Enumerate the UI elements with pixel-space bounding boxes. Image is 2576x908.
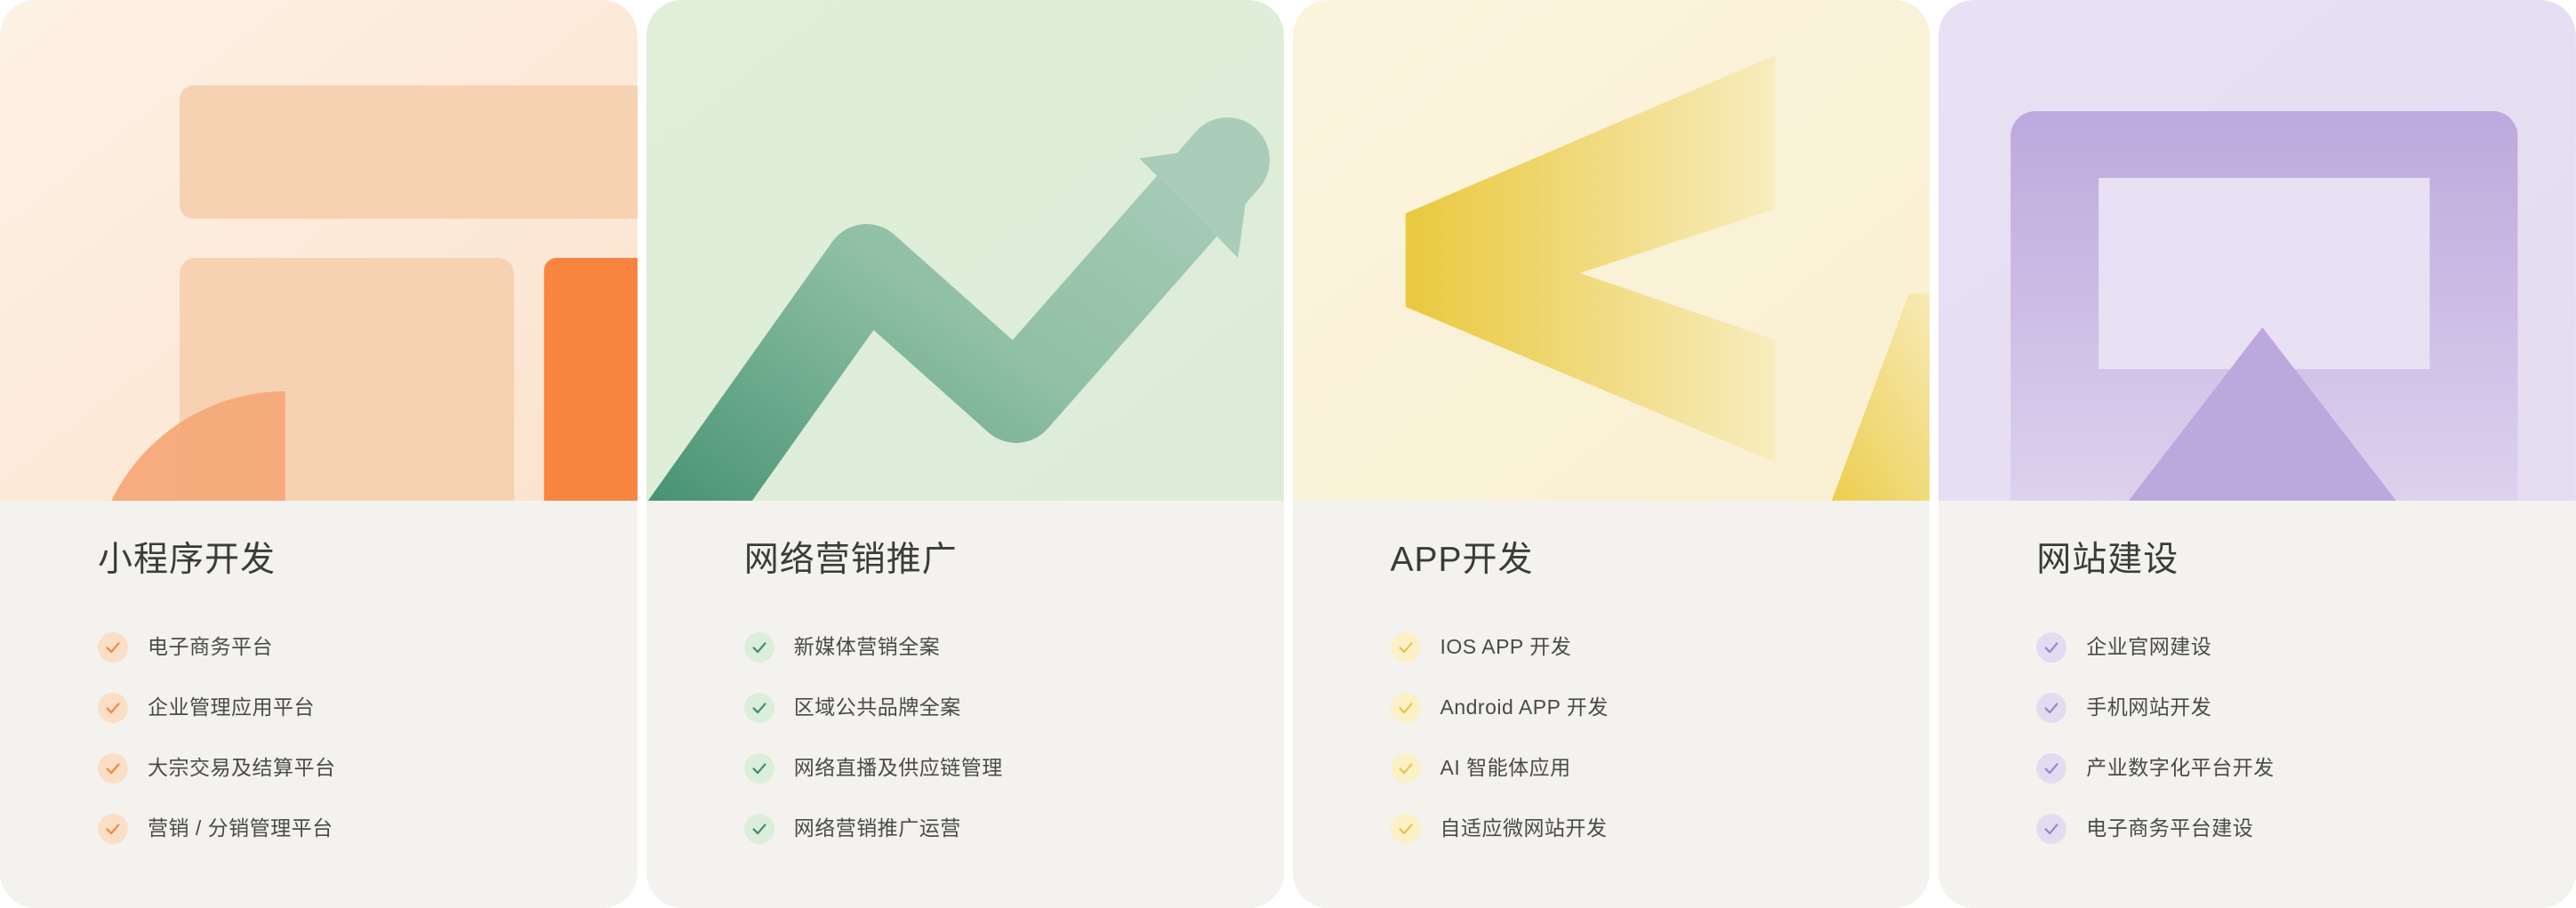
card-illustration-app-development [1293,0,1930,501]
card-body-website-construction: 网站建设 企业官网建设 手机网站开发 [1938,501,2576,908]
list-item[interactable]: 网络直播及供应链管理 [744,738,1284,799]
service-card-website-construction[interactable]: 网站建设 企业官网建设 手机网站开发 [1938,0,2576,908]
card-body-mini-program: 小程序开发 电子商务平台 企业管理应用平台 [0,501,638,908]
list-item-label: 网络营销推广运营 [794,818,961,839]
list-item[interactable]: 企业管理应用平台 [98,678,638,738]
list-item[interactable]: IOS APP 开发 [1391,617,1930,678]
list-item[interactable]: 区域公共品牌全案 [744,678,1284,738]
list-item[interactable]: 产业数字化平台开发 [2036,738,2576,799]
card-body-app-development: APP开发 IOS APP 开发 Android APP 开发 [1293,501,1930,908]
check-icon [1391,814,1421,844]
check-icon [1391,632,1421,663]
list-item-label: 企业官网建设 [2086,637,2211,657]
list-item-label: 新媒体营销全案 [794,637,941,657]
service-card-grid: 小程序开发 电子商务平台 企业管理应用平台 [0,0,2576,908]
layout-wireframe-icon [0,0,638,501]
card-illustration-mini-program [0,0,638,501]
check-icon [98,814,128,844]
check-icon [2036,632,2066,663]
check-icon [2036,753,2066,783]
check-icon [98,632,128,663]
feature-list: IOS APP 开发 Android APP 开发 AI 智能体应用 [1391,617,1930,859]
card-body-network-marketing: 网络营销推广 新媒体营销全案 区域公共品牌全案 [646,501,1284,908]
check-icon [744,814,774,844]
check-icon [744,753,774,783]
code-chevron-icon [1293,0,1930,501]
list-item-label: 企业管理应用平台 [148,697,315,718]
card-title: 网站建设 [2036,542,2576,580]
list-item-label: 电子商务平台建设 [2086,818,2253,839]
feature-list: 电子商务平台 企业管理应用平台 大宗交易及结算平台 [98,617,638,859]
check-icon [2036,814,2066,844]
check-icon [98,693,128,723]
list-item-label: 手机网站开发 [2086,697,2211,718]
card-title: APP开发 [1391,542,1930,580]
list-item-label: 大宗交易及结算平台 [148,758,336,778]
list-item-label: AI 智能体应用 [1440,758,1571,778]
list-item-label: IOS APP 开发 [1440,637,1572,657]
list-item[interactable]: AI 智能体应用 [1391,738,1930,799]
card-illustration-website-construction [1938,0,2576,501]
check-icon [744,632,774,663]
service-card-network-marketing[interactable]: 网络营销推广 新媒体营销全案 区域公共品牌全案 [646,0,1284,908]
list-item-label: 电子商务平台 [148,637,273,657]
list-item[interactable]: 手机网站开发 [2036,678,2576,738]
list-item-label: Android APP 开发 [1440,697,1609,718]
list-item[interactable]: 网络营销推广运营 [744,799,1284,859]
feature-list: 企业官网建设 手机网站开发 产业数字化平台开发 [2036,617,2576,859]
list-item[interactable]: 企业官网建设 [2036,617,2576,678]
card-title: 小程序开发 [98,542,638,580]
card-illustration-network-marketing [646,0,1284,501]
list-item-label: 区域公共品牌全案 [794,697,961,718]
check-icon [744,693,774,723]
list-item[interactable]: 大宗交易及结算平台 [98,738,638,799]
list-item[interactable]: 电子商务平台建设 [2036,799,2576,859]
list-item-label: 营销 / 分销管理平台 [148,818,333,839]
feature-list: 新媒体营销全案 区域公共品牌全案 网络直播及供应链管理 [744,617,1284,859]
service-card-app-development[interactable]: APP开发 IOS APP 开发 Android APP 开发 [1293,0,1930,908]
check-icon [1391,753,1421,783]
list-item[interactable]: 电子商务平台 [98,617,638,678]
list-item[interactable]: Android APP 开发 [1391,678,1930,738]
list-item-label: 自适应微网站开发 [1440,818,1608,839]
check-icon [2036,693,2066,723]
card-title: 网络营销推广 [744,542,1284,580]
check-icon [98,753,128,783]
monitor-airplay-icon [1938,0,2576,501]
list-item-label: 产业数字化平台开发 [2086,758,2275,778]
list-item[interactable]: 自适应微网站开发 [1391,799,1930,859]
trending-up-arrow-icon [646,0,1284,501]
list-item-label: 网络直播及供应链管理 [794,758,1003,778]
list-item[interactable]: 营销 / 分销管理平台 [98,799,638,859]
service-card-mini-program[interactable]: 小程序开发 电子商务平台 企业管理应用平台 [0,0,638,908]
check-icon [1391,693,1421,723]
list-item[interactable]: 新媒体营销全案 [744,617,1284,678]
